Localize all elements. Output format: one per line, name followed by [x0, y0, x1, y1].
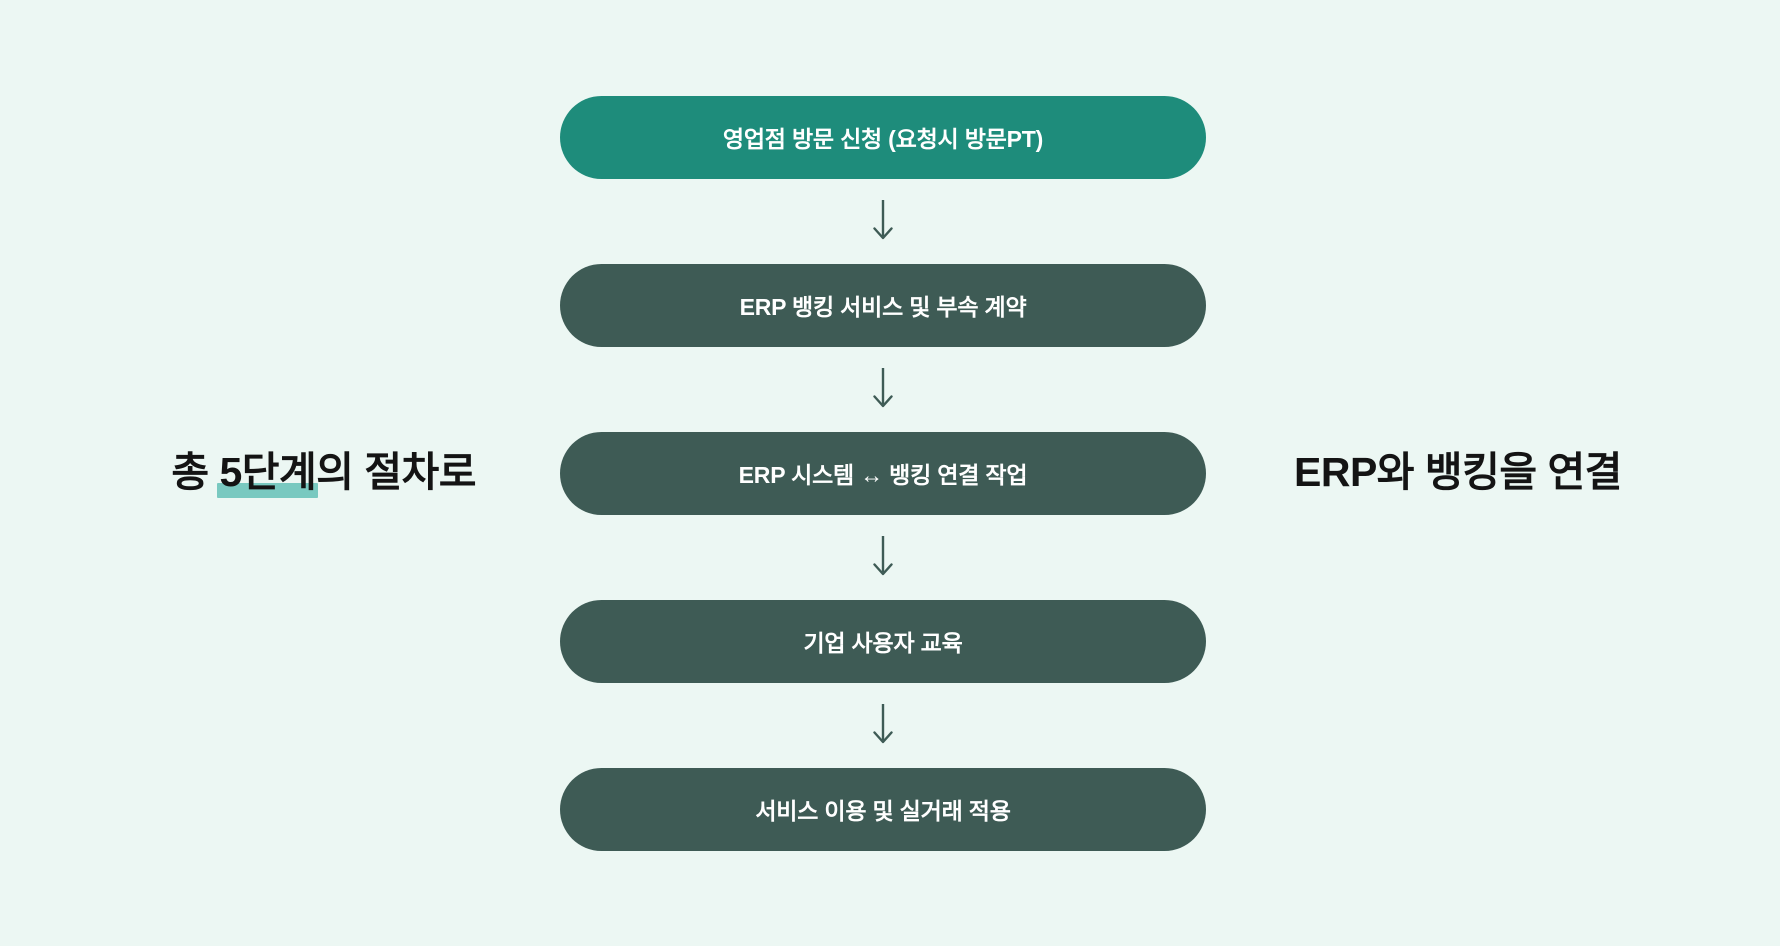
- flow-connector-2: [870, 347, 896, 432]
- arrow-down-icon: [870, 366, 896, 412]
- arrow-down-icon: [870, 702, 896, 748]
- flow-node-step-4[interactable]: 기업 사용자 교육: [560, 600, 1206, 683]
- left-caption: 총 5단계의 절차로: [0, 447, 560, 498]
- flow-node-step-1[interactable]: 영업점 방문 신청 (요청시 방문PT): [560, 96, 1206, 179]
- arrow-down-icon: [870, 198, 896, 244]
- flow-node-step-3[interactable]: ERP 시스템 ↔ 뱅킹 연결 작업: [560, 432, 1206, 515]
- diagram-canvas: 총 5단계의 절차로 영업점 방문 신청 (요청시 방문PT) ERP 뱅킹 서…: [0, 0, 1780, 946]
- arrow-down-icon: [870, 534, 896, 580]
- flow-connector-3: [870, 515, 896, 600]
- left-caption-highlight: 5단계: [219, 447, 316, 498]
- flow-node-label: 기업 사용자 교육: [803, 624, 962, 658]
- flow-node-label: 서비스 이용 및 실거래 적용: [755, 792, 1010, 826]
- right-caption-text: ERP와 뱅킹을 연결: [1294, 447, 1622, 498]
- flow-connector-4: [870, 683, 896, 768]
- left-caption-prefix: 총: [171, 449, 219, 495]
- flow-node-step-2[interactable]: ERP 뱅킹 서비스 및 부속 계약: [560, 264, 1206, 347]
- process-flow: 영업점 방문 신청 (요청시 방문PT) ERP 뱅킹 서비스 및 부속 계약 …: [560, 96, 1206, 851]
- left-caption-suffix: 의 절차로: [316, 449, 476, 495]
- diagram-layout: 총 5단계의 절차로 영업점 방문 신청 (요청시 방문PT) ERP 뱅킹 서…: [0, 96, 1780, 851]
- flow-node-label: ERP 시스템 ↔ 뱅킹 연결 작업: [739, 456, 1028, 490]
- flow-node-label: 영업점 방문 신청 (요청시 방문PT): [723, 120, 1043, 154]
- flow-node-step-5[interactable]: 서비스 이용 및 실거래 적용: [560, 768, 1206, 851]
- left-caption-text: 총 5단계의 절차로: [171, 447, 476, 498]
- flow-node-label: ERP 뱅킹 서비스 및 부속 계약: [740, 288, 1027, 322]
- flow-connector-1: [870, 179, 896, 264]
- right-caption: ERP와 뱅킹을 연결: [1206, 447, 1780, 498]
